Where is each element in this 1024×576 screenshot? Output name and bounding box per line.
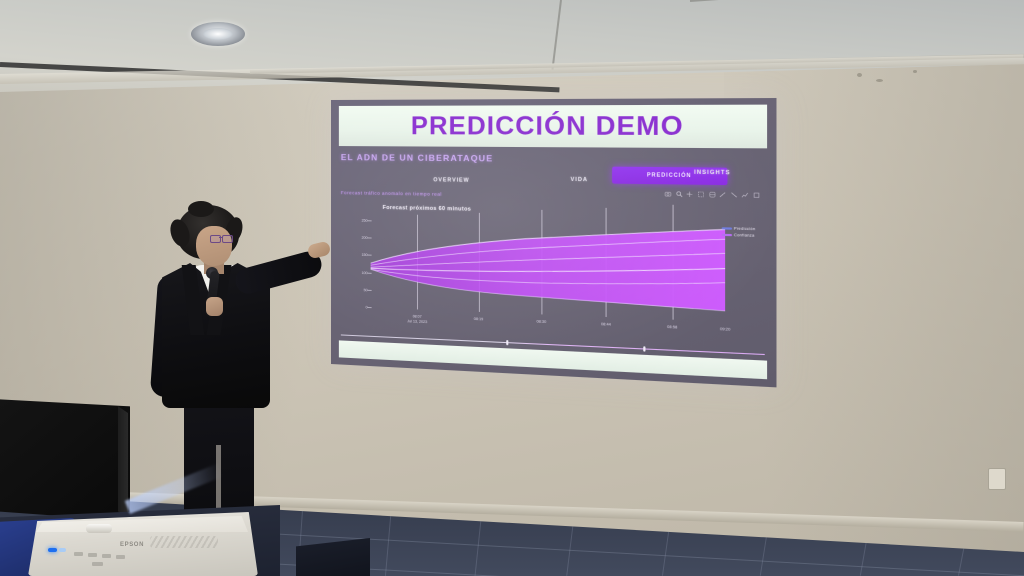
forecast-chart[interactable]: Forecast próximos 60 minutos 0 50 100 15… xyxy=(341,204,763,341)
zoom-icon[interactable] xyxy=(676,191,683,198)
glasses-icon xyxy=(210,235,234,242)
pan-icon[interactable] xyxy=(687,191,694,198)
wall-mark xyxy=(913,70,917,73)
page-title: PREDICCIÓN DEMO xyxy=(411,111,684,142)
chart-legend: Predicción Confianza xyxy=(721,226,755,239)
projector-status-led xyxy=(59,548,66,552)
x-tick-label: 08:19 xyxy=(474,317,483,322)
tab-vida[interactable]: VIDA xyxy=(571,177,588,184)
y-tick-label: 150 xyxy=(362,253,368,257)
slide-title-banner: PREDICCIÓN DEMO xyxy=(339,105,767,149)
legend-item: Confianza xyxy=(721,232,755,237)
camera-icon[interactable] xyxy=(665,191,672,198)
projector-lens xyxy=(86,524,112,533)
wall-mark xyxy=(857,73,862,77)
wall-mark xyxy=(876,79,883,82)
x-tick-label: 08:58 xyxy=(667,325,677,331)
legend-label: Confianza xyxy=(734,233,754,238)
tab-overview[interactable]: OVERVIEW xyxy=(433,177,469,184)
projector-power-led xyxy=(48,548,57,552)
tab-prediccion-label: PREDICCIÓN xyxy=(647,172,692,179)
monitor-screen xyxy=(0,399,130,521)
chart-plot-area[interactable]: 0 50 100 150 200 250 xyxy=(371,221,726,322)
y-tick-label: 250 xyxy=(362,219,368,223)
y-tick-label: 100 xyxy=(362,271,368,275)
y-tick-label: 200 xyxy=(362,236,368,240)
x-tick-label: 08:44 xyxy=(601,322,611,328)
x-tick-time: 08:07 xyxy=(413,314,422,318)
lasso-select-icon[interactable] xyxy=(709,191,716,198)
plotly-modebar[interactable] xyxy=(665,191,760,199)
y-tick-label: 0 xyxy=(366,305,368,309)
range-slider-handle-left[interactable] xyxy=(506,340,508,345)
legend-swatch xyxy=(721,227,731,230)
x-tick-label: 08:30 xyxy=(537,319,547,324)
range-slider-handle-right[interactable] xyxy=(643,346,645,351)
legend-item: Predicción xyxy=(721,226,755,231)
autoscale-icon[interactable] xyxy=(742,192,749,199)
presenter-pointing-hand xyxy=(307,241,332,260)
projection-screen: PREDICCIÓN DEMO EL ADN DE UN CIBERATAQUE… xyxy=(331,98,776,387)
dashboard-nav: OVERVIEW VIDA PREDICCIÓN INSIGHTS xyxy=(341,164,765,192)
zoom-in-icon[interactable] xyxy=(720,191,727,198)
presenter-hand-mic xyxy=(206,297,223,316)
x-tick-date: Jul 13, 2023 xyxy=(407,319,427,324)
zoom-out-icon[interactable] xyxy=(731,192,738,199)
x-tick-label: 09:20 xyxy=(720,327,730,333)
presenter-hair xyxy=(188,201,214,217)
box-select-icon[interactable] xyxy=(698,191,705,198)
slide-subnote: Forecast tráfico anomalo en tiempo real xyxy=(341,190,442,197)
y-tick-label: 50 xyxy=(364,288,368,292)
x-tick-label: 08:07 Jul 13, 2023 xyxy=(407,314,427,325)
reset-axes-icon[interactable] xyxy=(753,192,760,199)
tab-insights[interactable]: INSIGHTS xyxy=(694,170,730,177)
room-scene: PREDICCIÓN DEMO EL ADN DE UN CIBERATAQUE… xyxy=(0,0,1024,576)
confidence-band xyxy=(371,221,726,322)
legend-swatch xyxy=(721,233,731,236)
projector-brand-label: EPSON xyxy=(120,542,144,548)
ceiling-light-icon xyxy=(191,22,245,46)
chart-title: Forecast próximos 60 minutos xyxy=(383,205,472,213)
presenter-face xyxy=(196,226,232,266)
slide-brand: EL ADN DE UN CIBERATAQUE xyxy=(341,152,494,163)
projector-vent xyxy=(150,536,218,548)
wall-outlet xyxy=(988,468,1006,490)
legend-label: Predicción xyxy=(734,226,755,231)
